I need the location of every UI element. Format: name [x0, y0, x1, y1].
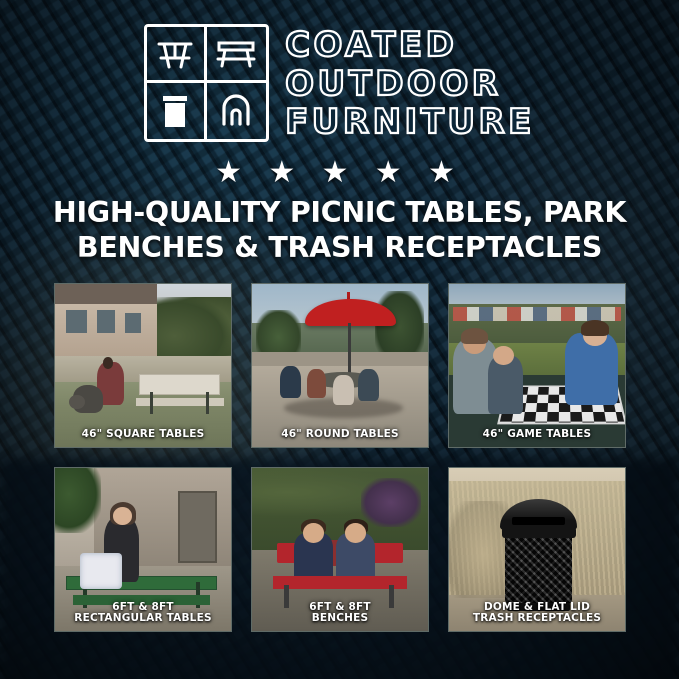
photo-round-tables — [252, 284, 428, 447]
tile-caption: DOME & FLAT LID TRASH RECEPTACLES — [449, 597, 625, 632]
tile-caption: 46" SQUARE TABLES — [55, 424, 231, 447]
tile-caption: 46" ROUND TABLES — [252, 424, 428, 447]
brand-logo: COATED OUTDOOR FURNITURE — [0, 24, 679, 142]
tile-caption: 6FT & 8FT BENCHES — [252, 597, 428, 632]
brand-name-line-1: COATED — [285, 27, 535, 64]
headline: HIGH-QUALITY PICNIC TABLES, PARK BENCHES… — [30, 196, 649, 266]
tile-caption-line-1: 46" ROUND TABLES — [255, 429, 425, 441]
picnic-table-square-icon — [147, 27, 207, 83]
photo-square-tables — [55, 284, 231, 447]
product-photo-grid: 46" SQUARE TABLES — [54, 283, 626, 632]
picnic-table-rect-icon — [207, 27, 267, 83]
brand-name-line-2: OUTDOOR — [285, 66, 535, 103]
brand-name-line-3: FURNITURE — [285, 104, 535, 141]
product-tile-square-tables[interactable]: 46" SQUARE TABLES — [54, 283, 232, 448]
product-tile-benches[interactable]: 6FT & 8FT BENCHES — [251, 467, 429, 632]
headline-line-1: HIGH-QUALITY PICNIC TABLES, PARK — [30, 196, 649, 231]
flat-lid-trash-can-icon — [147, 83, 207, 139]
dome-lid-trash-can-icon — [207, 83, 267, 139]
tile-caption-line-2: RECTANGULAR TABLES — [58, 613, 228, 625]
tile-caption: 46" GAME TABLES — [449, 424, 625, 447]
headline-line-2: BENCHES & TRASH RECEPTACLES — [30, 231, 649, 266]
tile-caption-line-1: 46" SQUARE TABLES — [58, 429, 228, 441]
tile-caption-line-2: BENCHES — [255, 613, 425, 625]
star-rating: ★ ★ ★ ★ ★ — [0, 158, 679, 188]
product-tile-trash-receptacles[interactable]: DOME & FLAT LID TRASH RECEPTACLES — [448, 467, 626, 632]
product-tile-game-tables[interactable]: 46" GAME TABLES — [448, 283, 626, 448]
product-tile-round-tables[interactable]: 46" ROUND TABLES — [251, 283, 429, 448]
photo-game-tables — [449, 284, 625, 447]
tile-caption-line-2: TRASH RECEPTACLES — [452, 613, 622, 625]
tile-caption: 6FT & 8FT RECTANGULAR TABLES — [55, 597, 231, 632]
product-poster: COATED OUTDOOR FURNITURE ★ ★ ★ ★ ★ HIGH-… — [0, 0, 679, 679]
brand-wordmark: COATED OUTDOOR FURNITURE — [285, 25, 535, 141]
tile-caption-line-1: 46" GAME TABLES — [452, 429, 622, 441]
product-tile-rectangular-tables[interactable]: 6FT & 8FT RECTANGULAR TABLES — [54, 467, 232, 632]
logo-icon-grid — [144, 24, 269, 142]
